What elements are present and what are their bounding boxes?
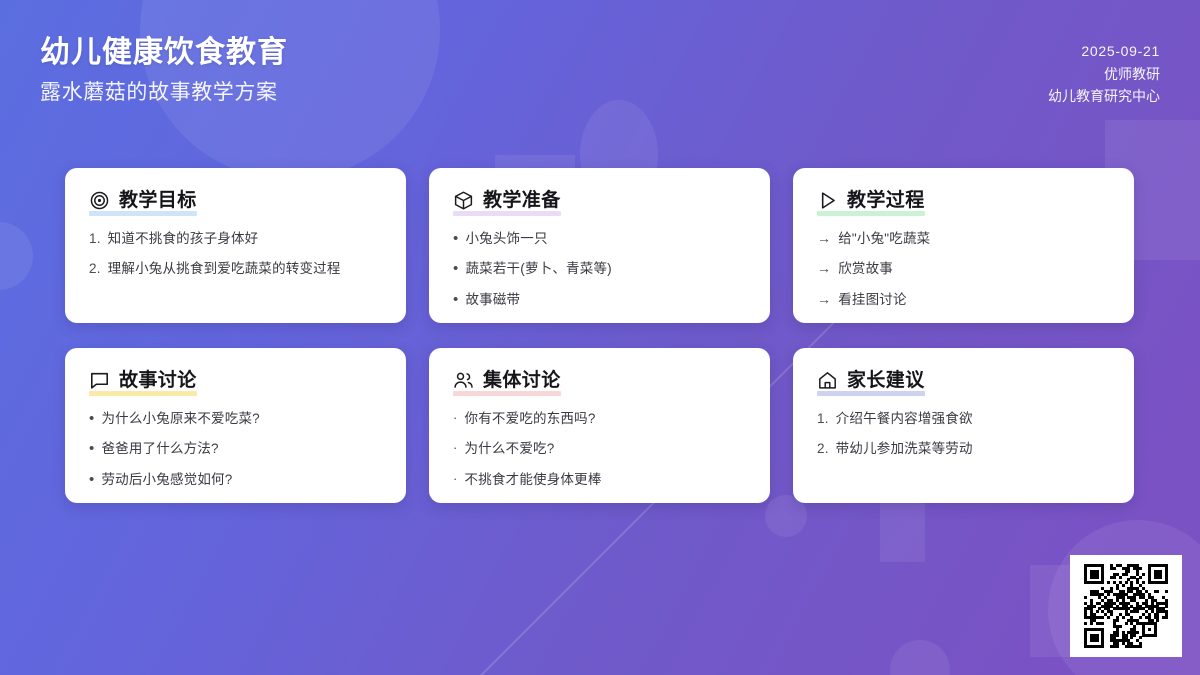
- card-story-discussion: 故事讨论•为什么小兔原来不爱吃菜?•爸爸用了什么方法?•劳动后小兔感觉如何?: [65, 348, 406, 503]
- card-list: •为什么小兔原来不爱吃菜?•爸爸用了什么方法?•劳动后小兔感觉如何?: [89, 409, 382, 490]
- speech-bubble-icon: [89, 370, 110, 391]
- list-item: ·你有不爱吃的东西吗?: [453, 409, 746, 429]
- decorative-circle: [0, 222, 33, 290]
- slide-header: 幼儿健康饮食教育 露水蘑菇的故事教学方案 2025-09-21 优师教研 幼儿教…: [0, 0, 1200, 150]
- list-item-marker: •: [89, 470, 94, 490]
- list-item-marker: →: [817, 259, 831, 278]
- page-subtitle: 露水蘑菇的故事教学方案: [40, 79, 288, 106]
- list-item: 2.带幼儿参加洗菜等劳动: [817, 439, 1110, 459]
- card-header: 集体讨论: [453, 370, 561, 392]
- list-item-text: 知道不挑食的孩子身体好: [108, 229, 382, 249]
- target-icon: [89, 190, 110, 211]
- card-title: 教学过程: [847, 190, 925, 212]
- package-icon: [453, 190, 474, 211]
- play-icon: [817, 190, 838, 211]
- list-item-marker: •: [453, 290, 458, 310]
- list-item-marker: ·: [453, 439, 458, 458]
- card-list: ·你有不爱吃的东西吗?·为什么不爱吃?·不挑食才能使身体更棒: [453, 409, 746, 490]
- card-header: 家长建议: [817, 370, 925, 392]
- card-list: 1.介绍午餐内容增强食欲2.带幼儿参加洗菜等劳动: [817, 409, 1110, 459]
- card-teaching-preparation: 教学准备•小兔头饰一只•蔬菜若干(萝卜、青菜等)•故事磁带: [429, 168, 770, 323]
- list-item-text: 蔬菜若干(萝卜、青菜等): [465, 259, 746, 279]
- list-item: 1.知道不挑食的孩子身体好: [89, 229, 382, 249]
- list-item-marker: ·: [453, 409, 458, 428]
- list-item: ·不挑食才能使身体更棒: [453, 470, 746, 490]
- list-item-text: 给"小兔"吃蔬菜: [838, 229, 1110, 249]
- list-item-marker: →: [817, 229, 831, 248]
- list-item: •爸爸用了什么方法?: [89, 439, 382, 459]
- slide-canvas: 幼儿健康饮食教育 露水蘑菇的故事教学方案 2025-09-21 优师教研 幼儿教…: [0, 0, 1200, 675]
- list-item: •小兔头饰一只: [453, 229, 746, 249]
- list-item-text: 为什么不爱吃?: [465, 439, 746, 459]
- card-header: 教学过程: [817, 190, 925, 212]
- list-item-text: 不挑食才能使身体更棒: [465, 470, 746, 490]
- list-item-marker: •: [453, 229, 458, 249]
- list-item-marker: •: [453, 259, 458, 279]
- card-grid: 教学目标1.知道不挑食的孩子身体好2.理解小兔从挑食到爱吃蔬菜的转变过程教学准备…: [65, 168, 1135, 503]
- home-icon: [817, 370, 838, 391]
- card-teaching-objectives: 教学目标1.知道不挑食的孩子身体好2.理解小兔从挑食到爱吃蔬菜的转变过程: [65, 168, 406, 323]
- card-title: 故事讨论: [119, 370, 197, 392]
- title-block: 幼儿健康饮食教育 露水蘑菇的故事教学方案: [40, 34, 288, 106]
- page-title: 幼儿健康饮食教育: [40, 34, 288, 72]
- card-title: 家长建议: [847, 370, 925, 392]
- card-list: •小兔头饰一只•蔬菜若干(萝卜、青菜等)•故事磁带: [453, 229, 746, 310]
- list-item: ·为什么不爱吃?: [453, 439, 746, 459]
- card-title: 教学准备: [483, 190, 561, 212]
- card-title: 集体讨论: [483, 370, 561, 392]
- list-item-marker: 1.: [89, 229, 101, 249]
- list-item-marker: •: [89, 409, 94, 429]
- meta-block: 2025-09-21 优师教研 幼儿教育研究中心: [1048, 40, 1160, 108]
- card-group-discussion: 集体讨论·你有不爱吃的东西吗?·为什么不爱吃?·不挑食才能使身体更棒: [429, 348, 770, 503]
- list-item: →欣赏故事: [817, 259, 1110, 279]
- list-item-marker: •: [89, 439, 94, 459]
- list-item-text: 为什么小兔原来不爱吃菜?: [101, 409, 382, 429]
- users-icon: [453, 370, 474, 391]
- list-item-text: 劳动后小兔感觉如何?: [101, 470, 382, 490]
- list-item-text: 爸爸用了什么方法?: [101, 439, 382, 459]
- list-item: 2.理解小兔从挑食到爱吃蔬菜的转变过程: [89, 259, 382, 279]
- meta-center: 幼儿教育研究中心: [1048, 85, 1160, 108]
- list-item-text: 你有不爱吃的东西吗?: [465, 409, 746, 429]
- meta-date: 2025-09-21: [1048, 40, 1160, 63]
- list-item-text: 理解小兔从挑食到爱吃蔬菜的转变过程: [108, 259, 382, 279]
- list-item: •为什么小兔原来不爱吃菜?: [89, 409, 382, 429]
- list-item-marker: 2.: [817, 439, 829, 459]
- list-item-marker: 2.: [89, 259, 101, 279]
- card-header: 故事讨论: [89, 370, 197, 392]
- qr-code-image: [1084, 564, 1168, 648]
- card-teaching-process: 教学过程→给"小兔"吃蔬菜→欣赏故事→看挂图讨论: [793, 168, 1134, 323]
- list-item-text: 介绍午餐内容增强食欲: [836, 409, 1110, 429]
- meta-organization: 优师教研: [1048, 63, 1160, 86]
- list-item-marker: →: [817, 290, 831, 309]
- qr-code[interactable]: [1070, 555, 1182, 657]
- list-item-text: 欣赏故事: [838, 259, 1110, 279]
- card-list: 1.知道不挑食的孩子身体好2.理解小兔从挑食到爱吃蔬菜的转变过程: [89, 229, 382, 279]
- card-header: 教学准备: [453, 190, 561, 212]
- decorative-circle: [890, 640, 950, 675]
- list-item: →给"小兔"吃蔬菜: [817, 229, 1110, 249]
- list-item-text: 看挂图讨论: [838, 290, 1110, 310]
- card-list: →给"小兔"吃蔬菜→欣赏故事→看挂图讨论: [817, 229, 1110, 310]
- card-title: 教学目标: [119, 190, 197, 212]
- list-item: •故事磁带: [453, 290, 746, 310]
- card-header: 教学目标: [89, 190, 197, 212]
- list-item: 1.介绍午餐内容增强食欲: [817, 409, 1110, 429]
- list-item-marker: ·: [453, 470, 458, 489]
- list-item-text: 小兔头饰一只: [465, 229, 746, 249]
- list-item-text: 带幼儿参加洗菜等劳动: [836, 439, 1110, 459]
- list-item: •蔬菜若干(萝卜、青菜等): [453, 259, 746, 279]
- list-item: •劳动后小兔感觉如何?: [89, 470, 382, 490]
- list-item-marker: 1.: [817, 409, 829, 429]
- list-item-text: 故事磁带: [465, 290, 746, 310]
- list-item: →看挂图讨论: [817, 290, 1110, 310]
- card-parent-advice: 家长建议1.介绍午餐内容增强食欲2.带幼儿参加洗菜等劳动: [793, 348, 1134, 503]
